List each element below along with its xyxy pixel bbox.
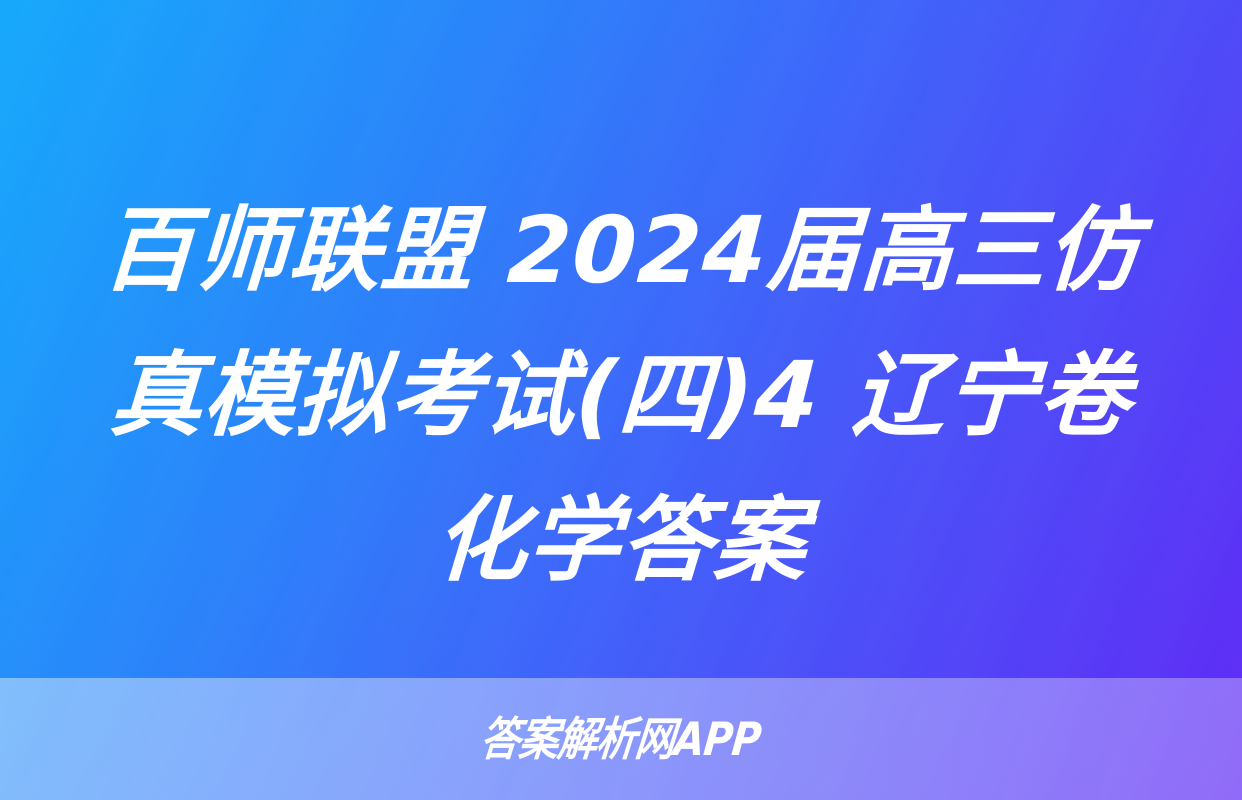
footer-watermark-text: 答案解析网APP bbox=[479, 716, 763, 762]
page-title: 百师联盟 2024届高三仿 真模拟考试(四)4 辽宁卷 化学答案 bbox=[0, 178, 1242, 613]
title-line-2: 真模拟考试(四)4 辽宁卷 bbox=[60, 323, 1182, 468]
title-line-1: 百师联盟 2024届高三仿 bbox=[60, 178, 1182, 323]
title-line-3: 化学答案 bbox=[60, 468, 1182, 613]
footer-watermark-band: 答案解析网APP bbox=[0, 678, 1242, 800]
cover-card: 百师联盟 2024届高三仿 真模拟考试(四)4 辽宁卷 化学答案 答案解析网AP… bbox=[0, 0, 1242, 800]
